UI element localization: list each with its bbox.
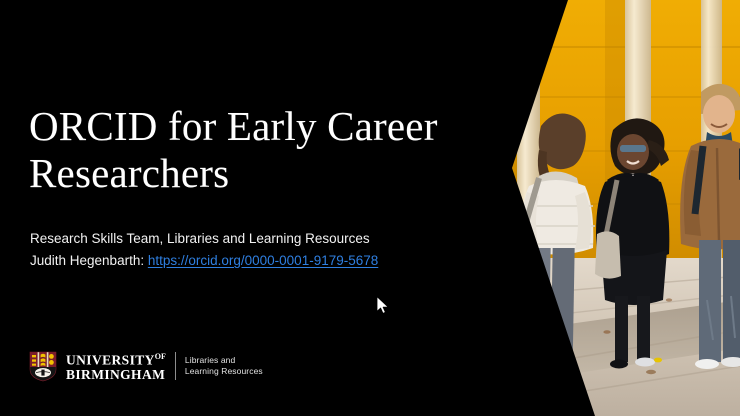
author-name-label: Judith Hegenbarth:: [30, 253, 148, 268]
logo-department-name: Libraries and Learning Resources: [185, 355, 263, 377]
subtitle-author-line: Judith Hegenbarth: https://orcid.org/000…: [30, 250, 470, 272]
wordmark-line-1: UNIVERSITYOF: [66, 350, 166, 368]
wordmark-university-text: UNIVERSITY: [66, 353, 155, 368]
wordmark-line-2: BIRMINGHAM: [66, 368, 166, 382]
slide-title-line-1: ORCID for Early Career: [29, 103, 438, 149]
wordmark-of-superscript: OF: [155, 352, 166, 361]
university-crest-icon: [28, 350, 58, 383]
slide-title-line-2: Researchers: [29, 150, 229, 196]
slide-title: ORCID for Early Career Researchers: [29, 103, 499, 197]
slide-subtitle: Research Skills Team, Libraries and Lear…: [30, 228, 470, 272]
logo-divider: [175, 352, 176, 380]
orcid-profile-link[interactable]: https://orcid.org/0000-0001-9179-5678: [148, 253, 378, 268]
department-line-2: Learning Resources: [185, 366, 263, 377]
students-walking-photo: [455, 0, 740, 416]
subtitle-team-line: Research Skills Team, Libraries and Lear…: [30, 228, 470, 250]
university-logo-lockup: UNIVERSITYOF BIRMINGHAM Libraries and Le…: [28, 349, 263, 383]
university-wordmark: UNIVERSITYOF BIRMINGHAM: [66, 350, 175, 382]
presentation-slide: ORCID for Early Career Researchers Resea…: [0, 0, 740, 416]
department-line-1: Libraries and: [185, 355, 263, 366]
mouse-pointer-icon: [376, 296, 390, 314]
